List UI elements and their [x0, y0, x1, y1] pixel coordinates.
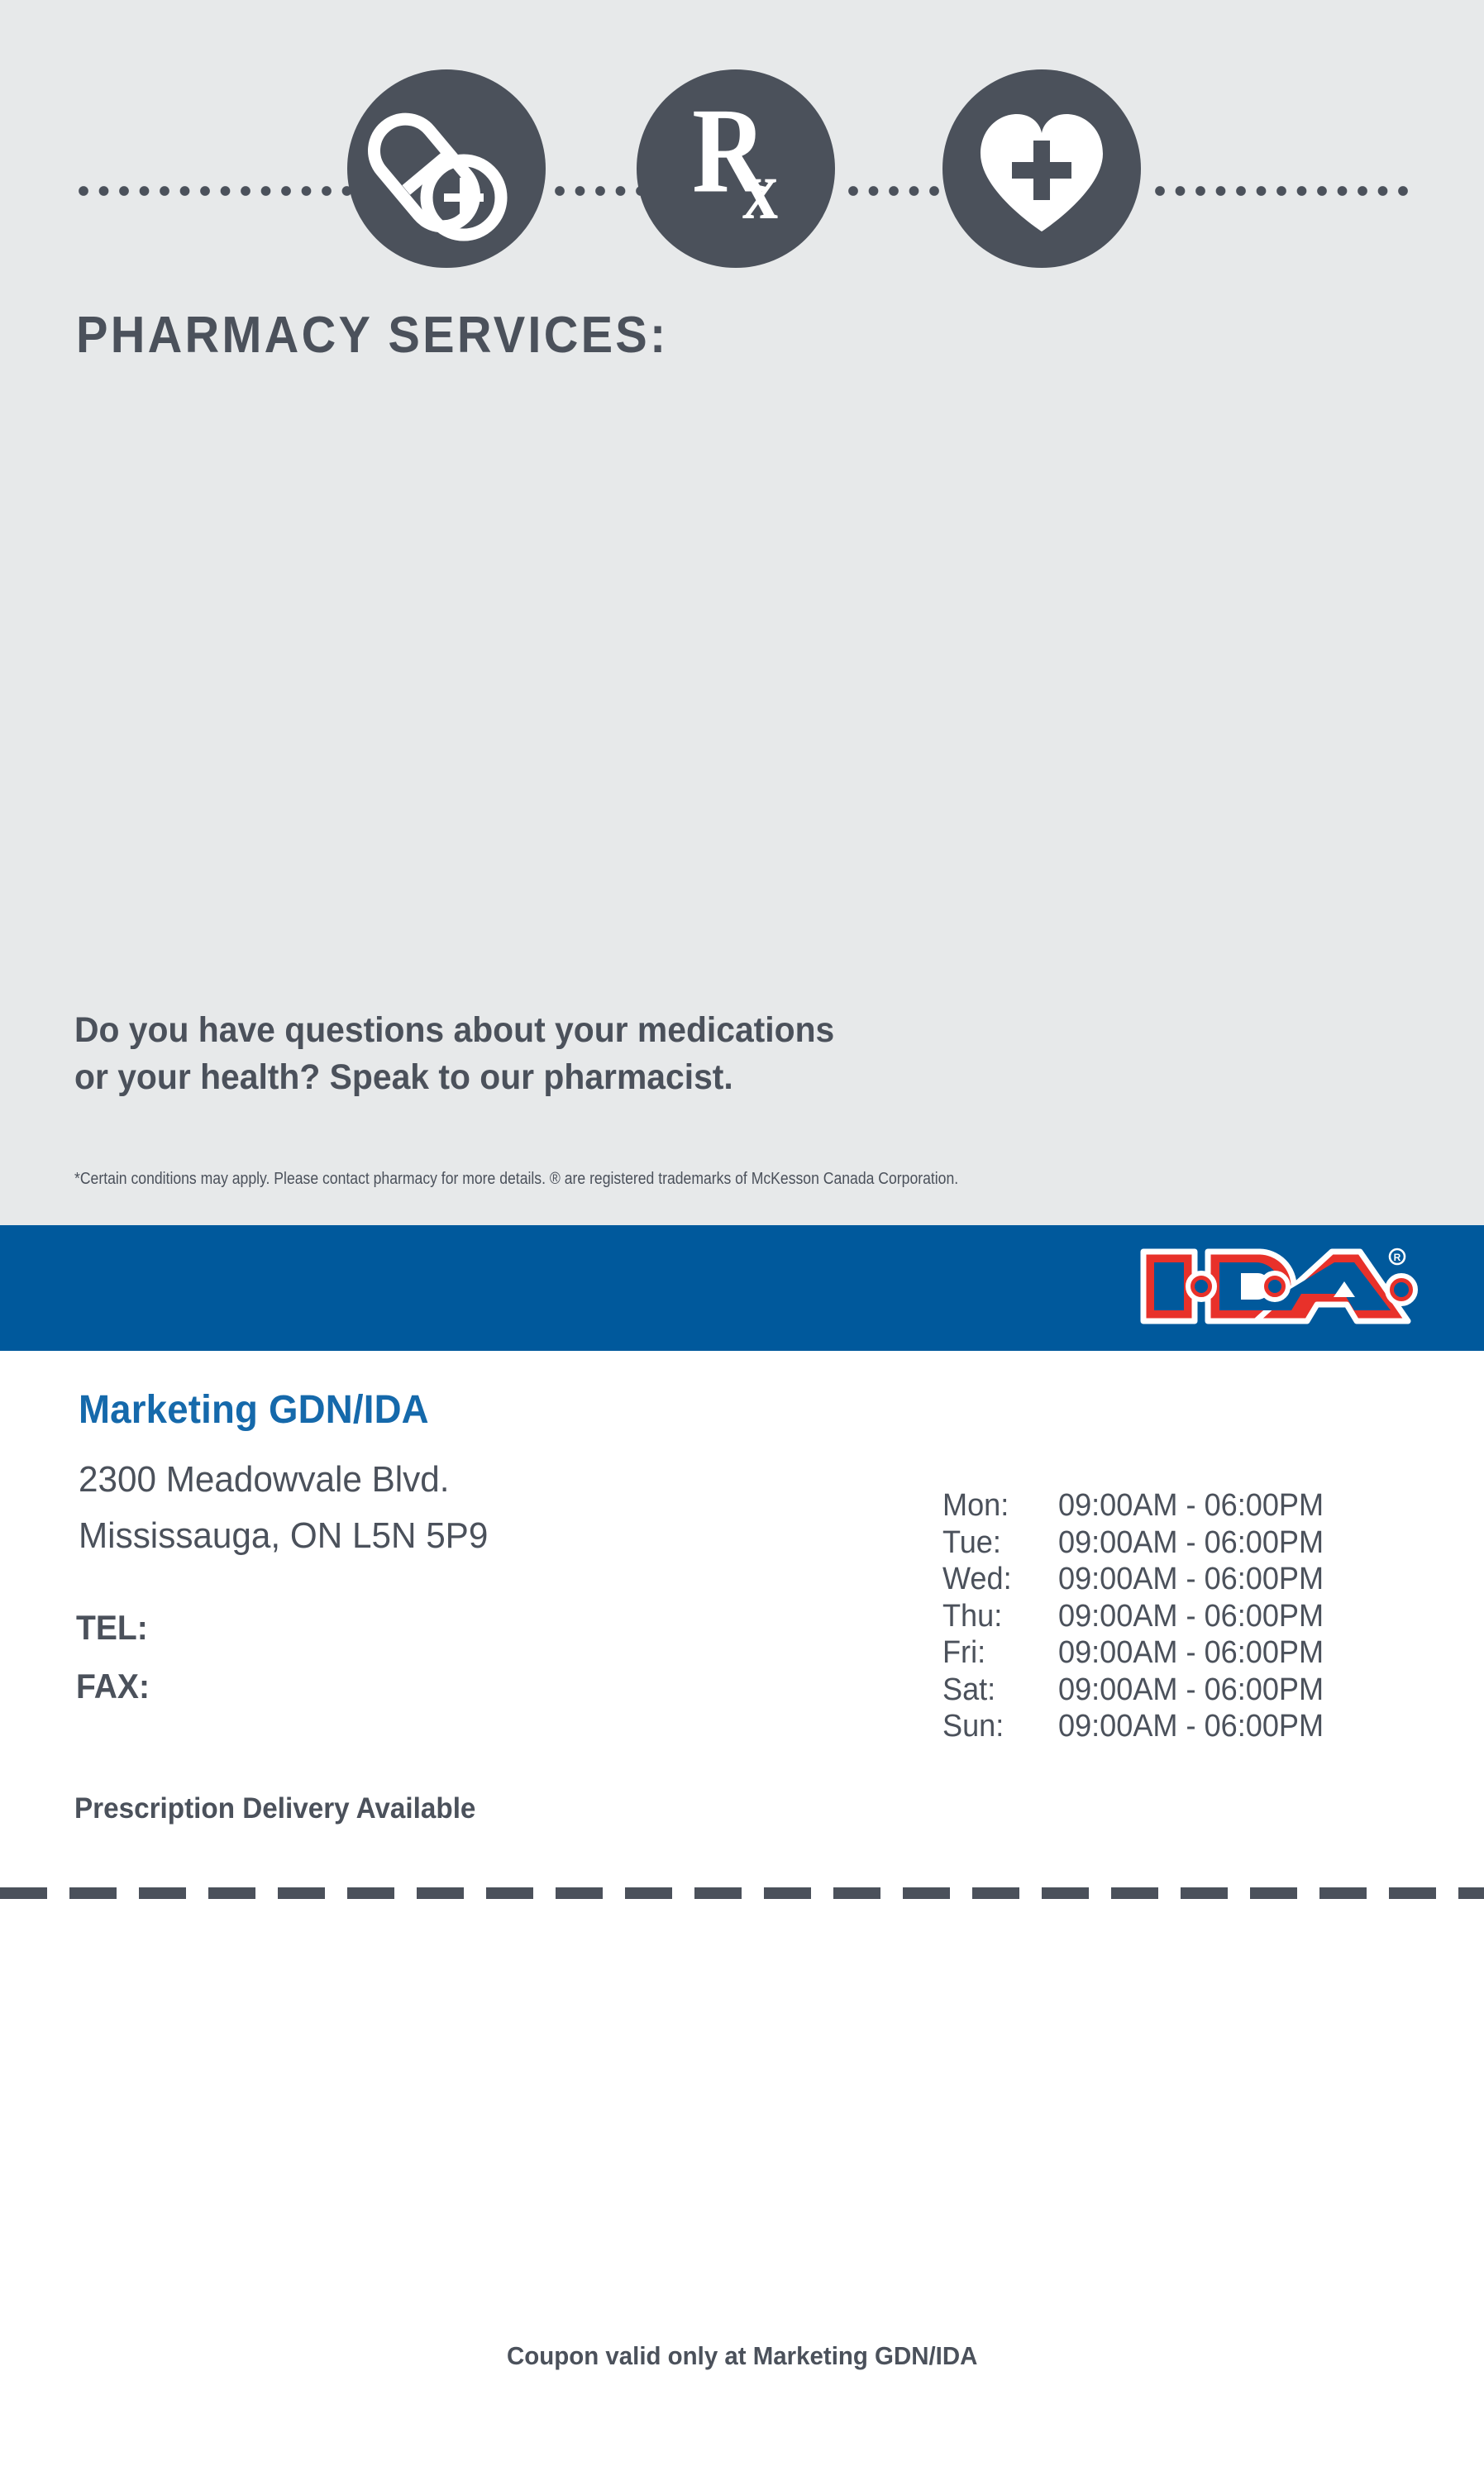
hours-time-value: 09:00AM - 06:00PM	[1058, 1525, 1324, 1561]
store-address-line-2: Mississauga, ON L5N 5P9	[79, 1515, 488, 1557]
svg-text:R: R	[1394, 1252, 1401, 1263]
hours-time-value: 09:00AM - 06:00PM	[1058, 1488, 1324, 1524]
brand-bar: R	[0, 1225, 1484, 1351]
delivery-note: Prescription Delivery Available	[74, 1792, 475, 1825]
rx-icon: R x	[637, 69, 835, 268]
page-title: PHARMACY SERVICES:	[76, 306, 668, 365]
fax-label: FAX:	[76, 1667, 150, 1706]
hours-day-label: Thu:	[942, 1599, 1052, 1634]
dotted-rule-left	[78, 185, 351, 197]
pills-plus-icon	[347, 69, 546, 268]
hours-day-label: Tue:	[942, 1525, 1052, 1561]
hours-time-value: 09:00AM - 06:00PM	[1058, 1672, 1324, 1708]
ida-logo: R	[1137, 1240, 1418, 1333]
callout-line-2: or your health? Speak to our pharmacist.	[74, 1054, 834, 1101]
hours-day-label: Fri:	[942, 1635, 1052, 1671]
dotted-rule-right	[1154, 185, 1410, 197]
hours-day-label: Wed:	[942, 1562, 1052, 1597]
table-row: Sun: 09:00AM - 06:00PM	[942, 1709, 1455, 1746]
hours-day-label: Mon:	[942, 1488, 1052, 1524]
dotted-rule-mid-2	[847, 185, 952, 197]
coupon-validity-note: Coupon valid only at Marketing GDN/IDA	[0, 2341, 1484, 2371]
hours-day-label: Sat:	[942, 1672, 1052, 1708]
store-hours-table: Mon: 09:00AM - 06:00PM Tue: 09:00AM - 06…	[942, 1488, 1455, 1746]
table-row: Wed: 09:00AM - 06:00PM	[942, 1562, 1455, 1599]
icon-strip: R x	[0, 35, 1484, 233]
disclaimer-text: *Certain conditions may apply. Please co…	[74, 1170, 958, 1189]
hours-time-value: 09:00AM - 06:00PM	[1058, 1709, 1324, 1744]
table-row: Sat: 09:00AM - 06:00PM	[942, 1672, 1455, 1710]
table-row: Tue: 09:00AM - 06:00PM	[942, 1525, 1455, 1562]
registered-trademark-mark: R	[1390, 1249, 1405, 1264]
pharmacist-callout: Do you have questions about your medicat…	[74, 1007, 834, 1101]
telephone-label: TEL:	[76, 1608, 148, 1648]
heart-plus-icon	[942, 69, 1141, 268]
hours-time-value: 09:00AM - 06:00PM	[1058, 1635, 1324, 1671]
store-address-line-1: 2300 Meadowvale Blvd.	[79, 1459, 450, 1500]
table-row: Fri: 09:00AM - 06:00PM	[942, 1635, 1455, 1672]
svg-text:x: x	[742, 142, 778, 237]
pharmacy-services-panel: R x PHARMACY SERVICES: Do you have quest…	[0, 0, 1484, 1225]
table-row: Mon: 09:00AM - 06:00PM	[942, 1488, 1455, 1525]
hours-time-value: 09:00AM - 06:00PM	[1058, 1562, 1324, 1597]
store-name: Marketing GDN/IDA	[79, 1387, 429, 1433]
coupon-validity-text: Coupon valid only at Marketing GDN/IDA	[507, 2341, 977, 2371]
callout-line-1: Do you have questions about your medicat…	[74, 1007, 834, 1054]
coupon-cut-line	[0, 1887, 1484, 1899]
hours-day-label: Sun:	[942, 1709, 1052, 1744]
table-row: Thu: 09:00AM - 06:00PM	[942, 1599, 1455, 1636]
hours-time-value: 09:00AM - 06:00PM	[1058, 1599, 1324, 1634]
